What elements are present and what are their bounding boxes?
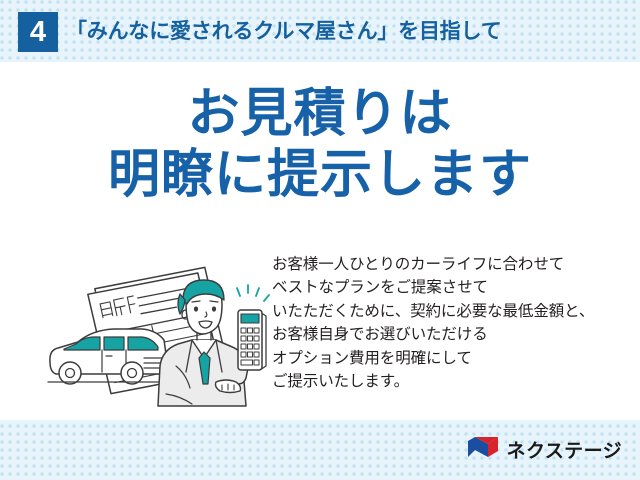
nextage-wordmark: ネクステージ: [507, 436, 622, 463]
copy-line: お客様自身でお選びいただける: [272, 323, 632, 346]
header-tagline: 「みんなに愛されるクルマ屋さん」を目指して: [66, 13, 502, 51]
banner-footer: ネクステージ: [0, 420, 640, 480]
copy-line: ご提示いたします。: [272, 370, 632, 393]
copy-line: お客様一人ひとりのカーライフに合わせて: [272, 253, 632, 276]
promo-banner: 4 「みんなに愛されるクルマ屋さん」を目指して お見積りは 明瞭に提示します: [0, 0, 640, 480]
illustration-salesman-quote-van: [40, 254, 272, 414]
nextage-n-mark-icon: [467, 435, 500, 464]
headline-block: お見積りは 明瞭に提示します: [0, 84, 640, 206]
nextage-logo: ネクステージ: [467, 434, 622, 464]
step-number-badge: 4: [18, 12, 58, 52]
body-copy-block: お客様一人ひとりのカーライフに合わせて ベストなプランをご提案させて いたただく…: [272, 253, 632, 393]
content-panel: お見積りは 明瞭に提示します: [0, 62, 640, 420]
copy-line: いたただくために、契約に必要な最低金額と、: [272, 300, 632, 323]
headline-line-1: お見積りは: [0, 84, 640, 144]
banner-header: 4 「みんなに愛されるクルマ屋さん」を目指して: [0, 0, 640, 62]
copy-line: ベストなプランをご提案させて: [272, 276, 632, 299]
headline-line-2: 明瞭に提示します: [0, 144, 640, 206]
copy-line: オプション費用を明確にして: [272, 347, 632, 370]
